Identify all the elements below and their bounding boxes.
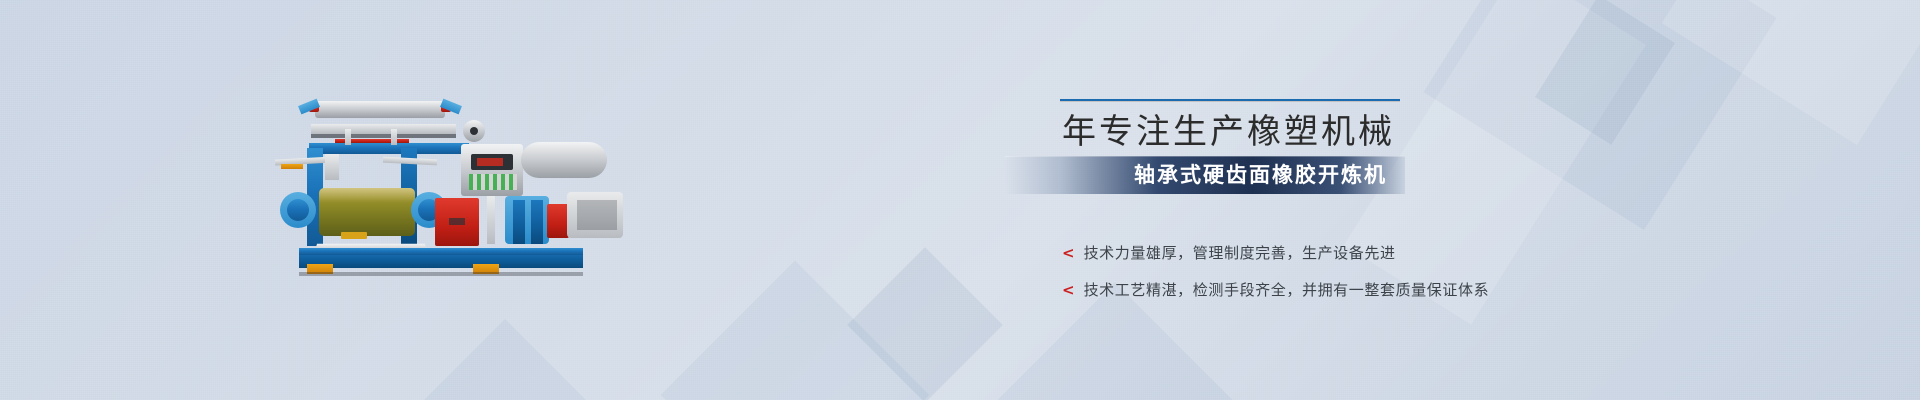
bg-polygon-bottom-1	[661, 261, 930, 400]
list-item: < 技术力量雄厚，管理制度完善，生产设备先进	[1062, 242, 1582, 263]
machine-upper-crossbeam	[309, 143, 469, 154]
machine-motor-body	[521, 142, 607, 178]
bg-polygon-bottom-4	[399, 319, 611, 400]
machine-upper-guide-bar	[311, 124, 456, 134]
bg-polygon-bottom-3	[847, 247, 1003, 400]
page-title: 年专注生产橡塑机械	[1062, 108, 1482, 156]
machine-motor-vents	[577, 200, 617, 230]
machine-stud-left	[345, 129, 351, 145]
machine-drive-rib-2	[531, 200, 543, 244]
machine-stud-right	[391, 129, 397, 145]
promo-banner: 年专注生产橡塑机械 轴承式硬齿面橡胶开炼机 < 技术力量雄厚，管理制度完善，生产…	[0, 0, 1920, 400]
machine-coupling-guard	[547, 204, 569, 238]
subtitle-text: 轴承式硬齿面橡胶开炼机	[1005, 156, 1405, 194]
machine-pulley-hub	[470, 127, 478, 135]
title-rule	[1060, 99, 1400, 102]
machine-roller-highlight	[319, 188, 415, 202]
feature-text: 技术力量雄厚，管理制度完善，生产设备先进	[1084, 242, 1396, 263]
machine-console-readout	[477, 158, 503, 166]
machine-drive-rib-1	[513, 200, 525, 244]
product-image-rubber-mixing-mill	[283, 96, 623, 278]
bg-polygon-top-right-4	[1662, 0, 1920, 145]
machine-gearbox-plate	[449, 218, 465, 225]
machine-adjust-block	[325, 154, 339, 180]
bg-polygon-top-right-3	[1535, 0, 1675, 145]
machine-base-shadow	[299, 272, 583, 276]
feature-list: < 技术力量雄厚，管理制度完善，生产设备先进 < 技术工艺精湛，检测手段齐全，并…	[1062, 242, 1582, 316]
machine-console-stand	[487, 196, 495, 244]
chevron-left-icon: <	[1062, 281, 1075, 299]
list-item: < 技术工艺精湛，检测手段齐全，并拥有一整套质量保证体系	[1062, 279, 1582, 300]
machine-bearing-left-inner	[287, 199, 309, 221]
feature-text: 技术工艺精湛，检测手段齐全，并拥有一整套质量保证体系	[1084, 279, 1490, 300]
machine-safety-trip	[281, 164, 303, 169]
subtitle-ribbon: 轴承式硬齿面橡胶开炼机	[1005, 156, 1405, 194]
machine-nameplate	[341, 232, 367, 239]
machine-upper-guide-shadow	[311, 134, 456, 138]
chevron-left-icon: <	[1062, 244, 1075, 262]
machine-top-roller	[315, 101, 445, 118]
machine-console-buttons	[469, 174, 517, 190]
machine-base-top	[299, 248, 583, 255]
